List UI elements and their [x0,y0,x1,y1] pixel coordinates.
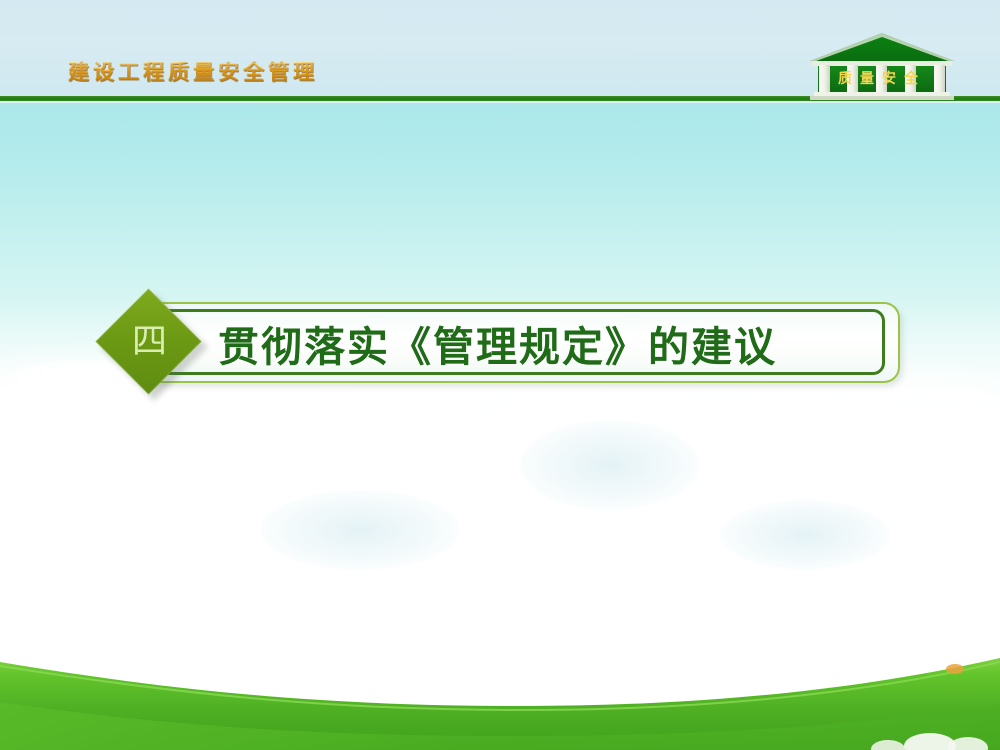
section-number-badge: 四 [96,289,202,395]
header-divider-highlight [0,101,1000,103]
hay-bale-shape [946,664,964,674]
quality-safety-temple-logo: 质量安全 [808,31,956,101]
cloud-shade [260,490,460,570]
slide-canvas: 建设工程质量安全管理 建设工程质量安全管理 [0,0,1000,750]
temple-logo-shape: 质量安全 [808,31,956,101]
temple-column [934,65,945,93]
grass-hill [0,640,1000,750]
grass-hill-shape [0,640,1000,750]
header-title: 建设工程质量安全管理 [68,62,318,83]
section-title: 贯彻落实《管理规定》的建议 [218,303,898,383]
temple-roof [810,33,954,61]
section-number: 四 [96,289,202,395]
temple-base-step [814,92,950,96]
cloud-shade [520,420,700,510]
temple-column [819,65,830,93]
logo-text: 质量安全 [838,70,926,87]
temple-base-step [810,96,954,100]
cloud-shade [720,500,890,570]
